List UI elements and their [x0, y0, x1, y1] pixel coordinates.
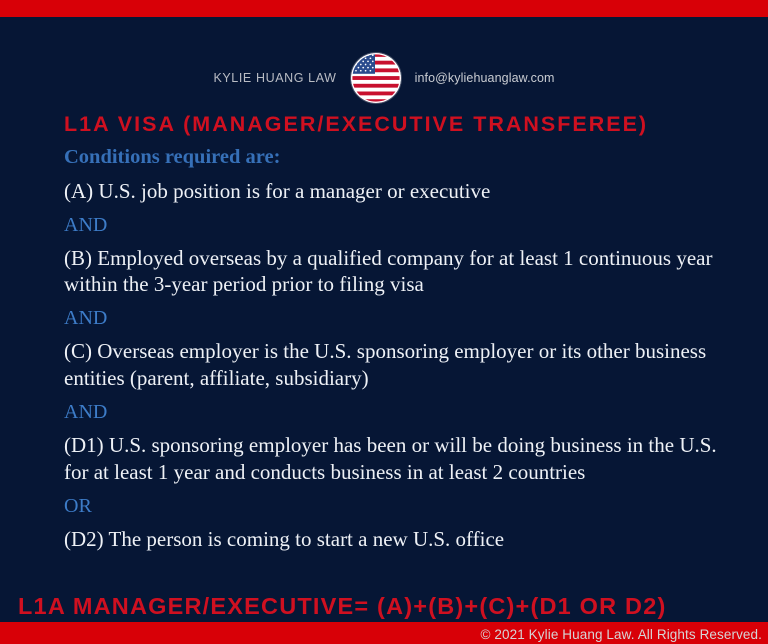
top-accent-bar	[0, 0, 768, 17]
conjunction-and-3: AND	[64, 399, 736, 425]
condition-b: (B) Employed overseas by a qualified com…	[64, 245, 736, 299]
page-title: L1A VISA (MANAGER/EXECUTIVE TRANSFEREE)	[64, 110, 736, 139]
us-flag-circle-icon	[351, 53, 401, 103]
copyright-notice: © 2021 Kylie Huang Law. All Rights Reser…	[481, 627, 763, 642]
formula-summary: L1A MANAGER/EXECUTIVE= (A)+(B)+(C)+(D1 O…	[18, 594, 758, 620]
condition-d2: (D2) The person is coming to start a new…	[64, 526, 736, 553]
main-content: L1A VISA (MANAGER/EXECUTIVE TRANSFEREE) …	[64, 110, 736, 560]
condition-d1: (D1) U.S. sponsoring employer has been o…	[64, 432, 736, 486]
condition-a: (A) U.S. job position is for a manager o…	[64, 178, 736, 205]
conjunction-and-2: AND	[64, 305, 736, 331]
subtitle-conditions: Conditions required are:	[64, 144, 736, 172]
condition-c: (C) Overseas employer is the U.S. sponso…	[64, 338, 736, 392]
conjunction-and-1: AND	[64, 212, 736, 238]
brand-header: KYLIE HUANG LAW	[0, 52, 768, 104]
conjunction-or-1: OR	[64, 493, 736, 519]
brand-email-label: info@kyliehuanglaw.com	[415, 71, 555, 85]
slide-canvas: KYLIE HUANG LAW	[0, 0, 768, 644]
brand-name-label: KYLIE HUANG LAW	[213, 71, 336, 85]
